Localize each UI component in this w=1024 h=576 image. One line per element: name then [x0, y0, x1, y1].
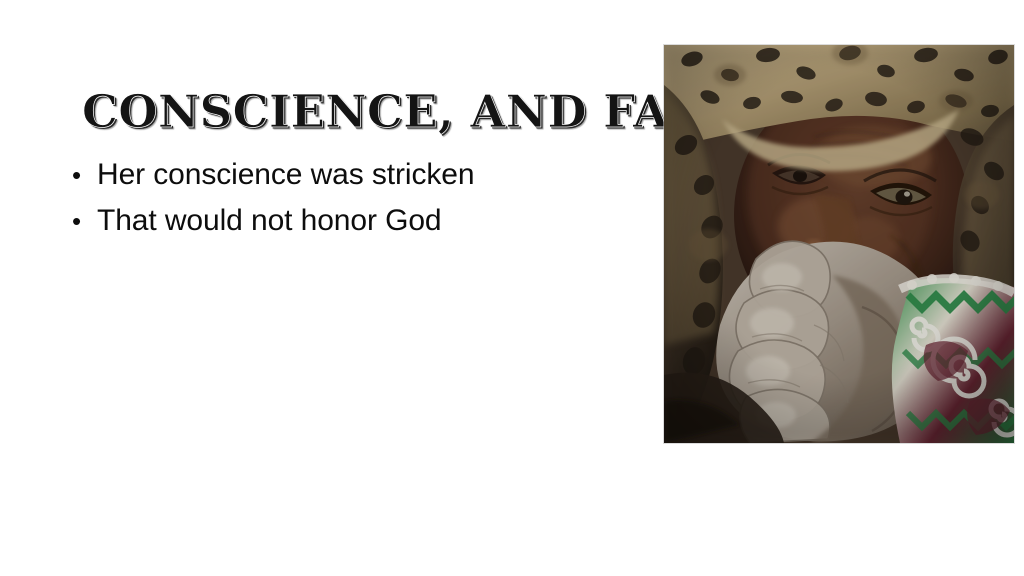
photo-artwork [664, 45, 1014, 443]
bullet-point-icon: • [72, 153, 97, 198]
page-title: CONSCIENCE, AND FAITH [82, 86, 642, 138]
slide: CONSCIENCE, AND FAITH • Her conscience w… [0, 0, 1024, 576]
bullet-text: Her conscience was stricken [97, 152, 632, 197]
elderly-woman-leopard-headwrap-photo [664, 45, 1014, 443]
list-item: • Her conscience was stricken [72, 152, 632, 198]
bullet-point-icon: • [72, 199, 97, 244]
list-item: • That would not honor God [72, 198, 632, 244]
bullet-text: That would not honor God [97, 198, 632, 243]
body-bullet-list: • Her conscience was stricken • That wou… [72, 152, 632, 244]
